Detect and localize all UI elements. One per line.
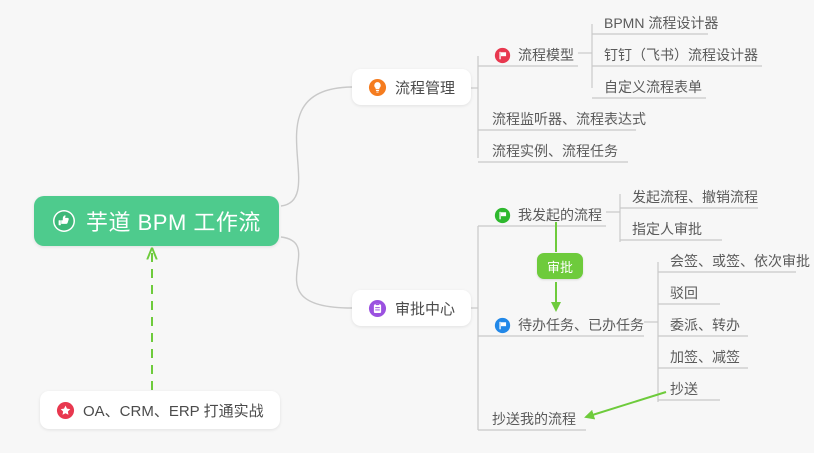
lightbulb-pin-icon bbox=[368, 78, 387, 97]
branch-node-process-management[interactable]: 流程管理 bbox=[352, 69, 471, 105]
node-start-cancel-process[interactable]: 发起流程、撤销流程 bbox=[628, 182, 764, 212]
bottom-note-label: OA、CRM、ERP 打通实战 bbox=[83, 400, 264, 421]
node-process-listener-expression[interactable]: 流程监听器、流程表达式 bbox=[488, 104, 652, 134]
node-reject[interactable]: 驳回 bbox=[666, 278, 704, 308]
node-label-designated-approver: 指定人审批 bbox=[632, 219, 702, 239]
node-label-cc: 抄送 bbox=[670, 379, 698, 399]
flow-arrow-cc-to-ccmine bbox=[586, 392, 666, 417]
branch-label-process-management: 流程管理 bbox=[395, 77, 455, 98]
node-label-reject: 驳回 bbox=[670, 283, 698, 303]
node-label-todo-done-tasks: 待办任务、已办任务 bbox=[518, 315, 644, 335]
node-delegate-transfer[interactable]: 委派、转办 bbox=[666, 310, 746, 340]
node-label-bpmn-designer: BPMN 流程设计器 bbox=[604, 13, 718, 33]
node-countersign-or-sequential[interactable]: 会签、或签、依次审批 bbox=[666, 246, 814, 276]
node-custom-process-form[interactable]: 自定义流程表单 bbox=[600, 72, 708, 102]
branch-node-approval-center[interactable]: 审批中心 bbox=[352, 290, 471, 326]
node-cc-to-me-process[interactable]: 抄送我的流程 bbox=[488, 404, 582, 434]
flag-icon bbox=[494, 317, 511, 334]
node-designated-approver[interactable]: 指定人审批 bbox=[628, 214, 708, 244]
node-label-process-listener-expression: 流程监听器、流程表达式 bbox=[492, 109, 646, 129]
mindmap-canvas: 芋道 BPM 工作流 流程管理 流程模型 BPMN 流程设计器 钉钉（飞书 bbox=[0, 0, 814, 453]
branch-label-approval-center: 审批中心 bbox=[395, 298, 455, 319]
node-add-remove-sign[interactable]: 加签、减签 bbox=[666, 342, 746, 372]
node-label-my-initiated-process: 我发起的流程 bbox=[518, 205, 602, 225]
thumbs-up-icon bbox=[52, 209, 76, 233]
node-label-countersign-or-sequential: 会签、或签、依次审批 bbox=[670, 251, 810, 271]
approval-badge-label: 审批 bbox=[547, 257, 573, 276]
node-my-initiated-process[interactable]: 我发起的流程 bbox=[490, 200, 608, 230]
node-todo-done-tasks[interactable]: 待办任务、已办任务 bbox=[490, 310, 650, 340]
node-process-instance-task[interactable]: 流程实例、流程任务 bbox=[488, 136, 624, 166]
node-process-model[interactable]: 流程模型 bbox=[490, 40, 580, 70]
connector-root-to-approval-center bbox=[281, 237, 352, 308]
clipboard-icon bbox=[368, 299, 387, 318]
node-label-start-cancel-process: 发起流程、撤销流程 bbox=[632, 187, 758, 207]
approval-badge: 审批 bbox=[537, 253, 583, 279]
node-dingtalk-feishu-designer[interactable]: 钉钉（飞书）流程设计器 bbox=[600, 40, 764, 70]
bottom-note-card[interactable]: OA、CRM、ERP 打通实战 bbox=[40, 391, 280, 429]
root-label: 芋道 BPM 工作流 bbox=[86, 205, 261, 237]
node-label-cc-to-me-process: 抄送我的流程 bbox=[492, 409, 576, 429]
node-label-process-model: 流程模型 bbox=[518, 45, 574, 65]
connector-root-to-process-management bbox=[281, 87, 352, 206]
node-label-process-instance-task: 流程实例、流程任务 bbox=[492, 141, 618, 161]
node-label-delegate-transfer: 委派、转办 bbox=[670, 315, 740, 335]
node-label-dingtalk-feishu-designer: 钉钉（飞书）流程设计器 bbox=[604, 45, 758, 65]
node-bpmn-designer[interactable]: BPMN 流程设计器 bbox=[600, 8, 724, 38]
star-icon bbox=[56, 401, 75, 420]
node-label-add-remove-sign: 加签、减签 bbox=[670, 347, 740, 367]
root-node[interactable]: 芋道 BPM 工作流 bbox=[34, 196, 279, 246]
flag-icon bbox=[494, 207, 511, 224]
node-label-custom-process-form: 自定义流程表单 bbox=[604, 77, 702, 97]
flag-icon bbox=[494, 47, 511, 64]
node-cc[interactable]: 抄送 bbox=[666, 374, 704, 404]
